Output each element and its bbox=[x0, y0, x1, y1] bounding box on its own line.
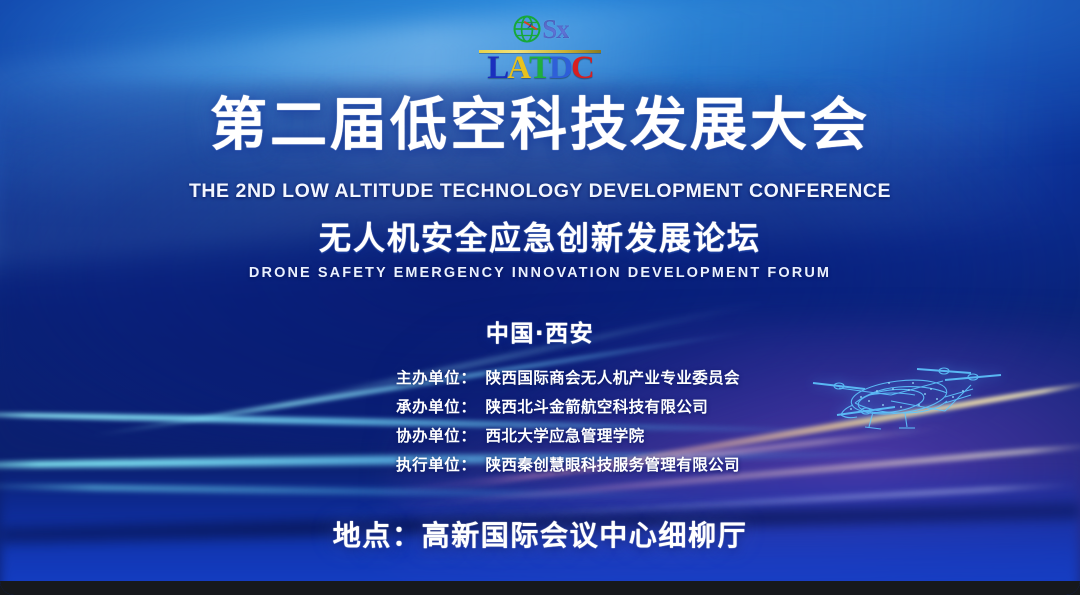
organizer-label: 承办单位： bbox=[396, 395, 477, 417]
logo-initials: Sx bbox=[542, 16, 569, 43]
logo-letter-d: D bbox=[549, 52, 571, 85]
organizer-list: 主办单位：陕西国际商会无人机产业专业委员会承办单位：陕西北斗金箭航空科技有限公司… bbox=[396, 366, 740, 475]
event-city: 中国·西安 bbox=[0, 314, 1080, 348]
organizer-name: 陕西北斗金箭航空科技有限公司 bbox=[486, 395, 709, 417]
logo-wordmark: LATDC bbox=[487, 52, 593, 85]
page-title: 第二届低空科技发展大会 bbox=[0, 97, 1080, 154]
event-venue: 地点：高新国际会议中心细柳厅 bbox=[0, 514, 1080, 554]
forum-subtitle: 无人机安全应急创新发展论坛 bbox=[0, 222, 1080, 254]
conference-banner: Sx LATDC 第二届低空科技发展大会 THE 2ND LOW ALTITUD… bbox=[0, 0, 1080, 595]
wireframe-quadcopter-drone-icon bbox=[795, 345, 1045, 450]
globe-airplane-icon bbox=[511, 12, 545, 46]
organizer-label: 主办单位： bbox=[396, 366, 477, 388]
forum-subtitle-english: DRONE SAFETY EMERGENCY INNOVATION DEVELO… bbox=[0, 265, 1080, 281]
logo-letter-t: T bbox=[529, 52, 549, 85]
logo-letter-c: C bbox=[571, 52, 593, 85]
page-title-english: THE 2ND LOW ALTITUDE TECHNOLOGY DEVELOPM… bbox=[0, 180, 1080, 203]
organizer-row: 承办单位：陕西北斗金箭航空科技有限公司 bbox=[396, 395, 740, 417]
organizer-row: 主办单位：陕西国际商会无人机产业专业委员会 bbox=[396, 366, 740, 388]
logo-letter-l: L bbox=[487, 52, 507, 85]
organizer-name: 陕西国际商会无人机产业专业委员会 bbox=[486, 366, 740, 388]
organizer-label: 执行单位： bbox=[396, 453, 477, 475]
organization-logo: Sx LATDC bbox=[0, 9, 1080, 85]
organizer-row: 协办单位：西北大学应急管理学院 bbox=[396, 424, 740, 446]
window-bottom-chrome bbox=[0, 581, 1080, 595]
organizer-label: 协办单位： bbox=[396, 424, 477, 446]
organizer-name: 西北大学应急管理学院 bbox=[486, 424, 645, 446]
logo-letter-a: A bbox=[507, 52, 529, 85]
organizer-name: 陕西秦创慧眼科技服务管理有限公司 bbox=[486, 453, 740, 475]
organizer-row: 执行单位：陕西秦创慧眼科技服务管理有限公司 bbox=[396, 453, 740, 475]
